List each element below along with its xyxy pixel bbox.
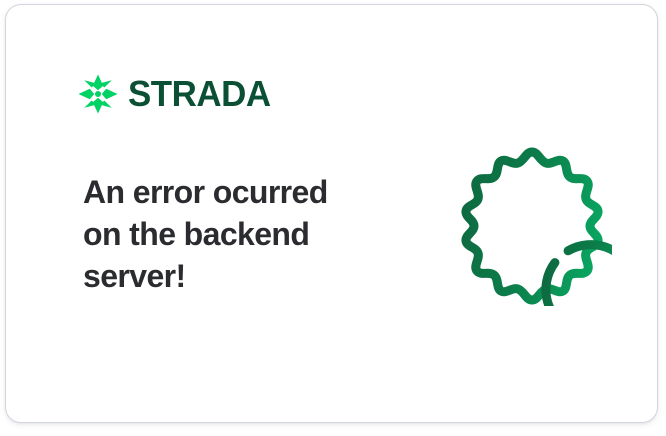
error-card: STRADA An error ocurred on the backend s… (5, 4, 658, 423)
gear-outer-ring (466, 152, 598, 300)
error-message-line-2: on the backend (83, 213, 383, 255)
error-message-line-1: An error ocurred (83, 171, 383, 213)
gear-cog-icon (452, 142, 612, 306)
error-message: An error ocurred on the backend server! (83, 171, 383, 297)
strada-asterisk-icon (77, 73, 119, 115)
brand-logo: STRADA (77, 73, 275, 115)
error-message-line-3: server! (83, 255, 383, 297)
brand-wordmark: STRADA (128, 76, 271, 112)
